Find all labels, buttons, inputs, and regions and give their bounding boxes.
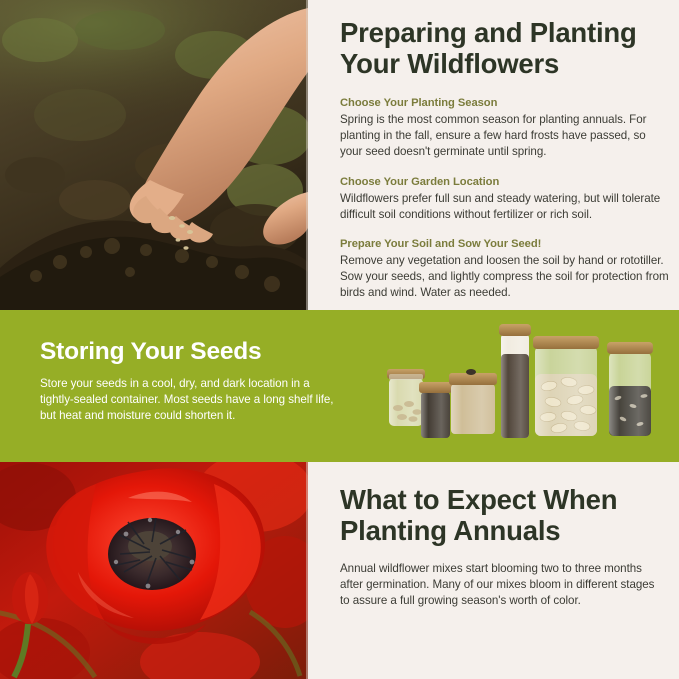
block-planting-season: Choose Your Planting Season Spring is th…: [340, 96, 670, 161]
page-title-preparing: Preparing and Planting Your Wildflowers: [340, 0, 670, 79]
section-title-what-to-expect: What to Expect When Planting Annuals: [340, 462, 665, 546]
poppy-photo-illustration: [0, 462, 308, 679]
subhead-prepare-soil: Prepare Your Soil and Sow Your Seed!: [340, 237, 670, 252]
jar-5: [533, 336, 599, 436]
expect-text-column: What to Expect When Planting Annuals Ann…: [340, 462, 665, 610]
jar-6: [607, 342, 653, 436]
photo-hand-sowing-seeds: [0, 0, 308, 310]
subhead-planting-season: Choose Your Planting Season: [340, 96, 670, 111]
body-garden-location: Wildflowers prefer full sun and steady w…: [340, 191, 670, 223]
soil-photo-illustration: [0, 0, 308, 310]
photo-seed-jars: [383, 316, 668, 456]
seed-jars-illustration: [383, 316, 668, 456]
block-garden-location: Choose Your Garden Location Wildflowers …: [340, 175, 670, 223]
jar-2: [419, 382, 452, 438]
subhead-garden-location: Choose Your Garden Location: [340, 175, 670, 190]
infographic-root: Preparing and Planting Your Wildflowers …: [0, 0, 679, 679]
jar-4: [499, 324, 531, 438]
section-preparing-and-planting: Preparing and Planting Your Wildflowers …: [0, 0, 679, 310]
body-what-to-expect: Annual wildflower mixes start blooming t…: [340, 561, 665, 610]
preparing-text-column: Preparing and Planting Your Wildflowers …: [340, 0, 670, 310]
jar-3: [449, 369, 497, 434]
block-prepare-soil: Prepare Your Soil and Sow Your Seed! Rem…: [340, 237, 670, 302]
body-storing: Store your seeds in a cool, dry, and dar…: [40, 376, 340, 425]
body-prepare-soil: Remove any vegetation and loosen the soi…: [340, 253, 670, 302]
section-storing-your-seeds: Storing Your Seeds Store your seeds in a…: [0, 310, 679, 462]
jar-1: [387, 369, 425, 426]
section-what-to-expect: What to Expect When Planting Annuals Ann…: [0, 462, 679, 679]
body-planting-season: Spring is the most common season for pla…: [340, 112, 670, 161]
storing-text-column: Storing Your Seeds Store your seeds in a…: [40, 338, 340, 425]
photo-red-poppy: [0, 462, 308, 679]
section-title-storing: Storing Your Seeds: [40, 338, 340, 365]
